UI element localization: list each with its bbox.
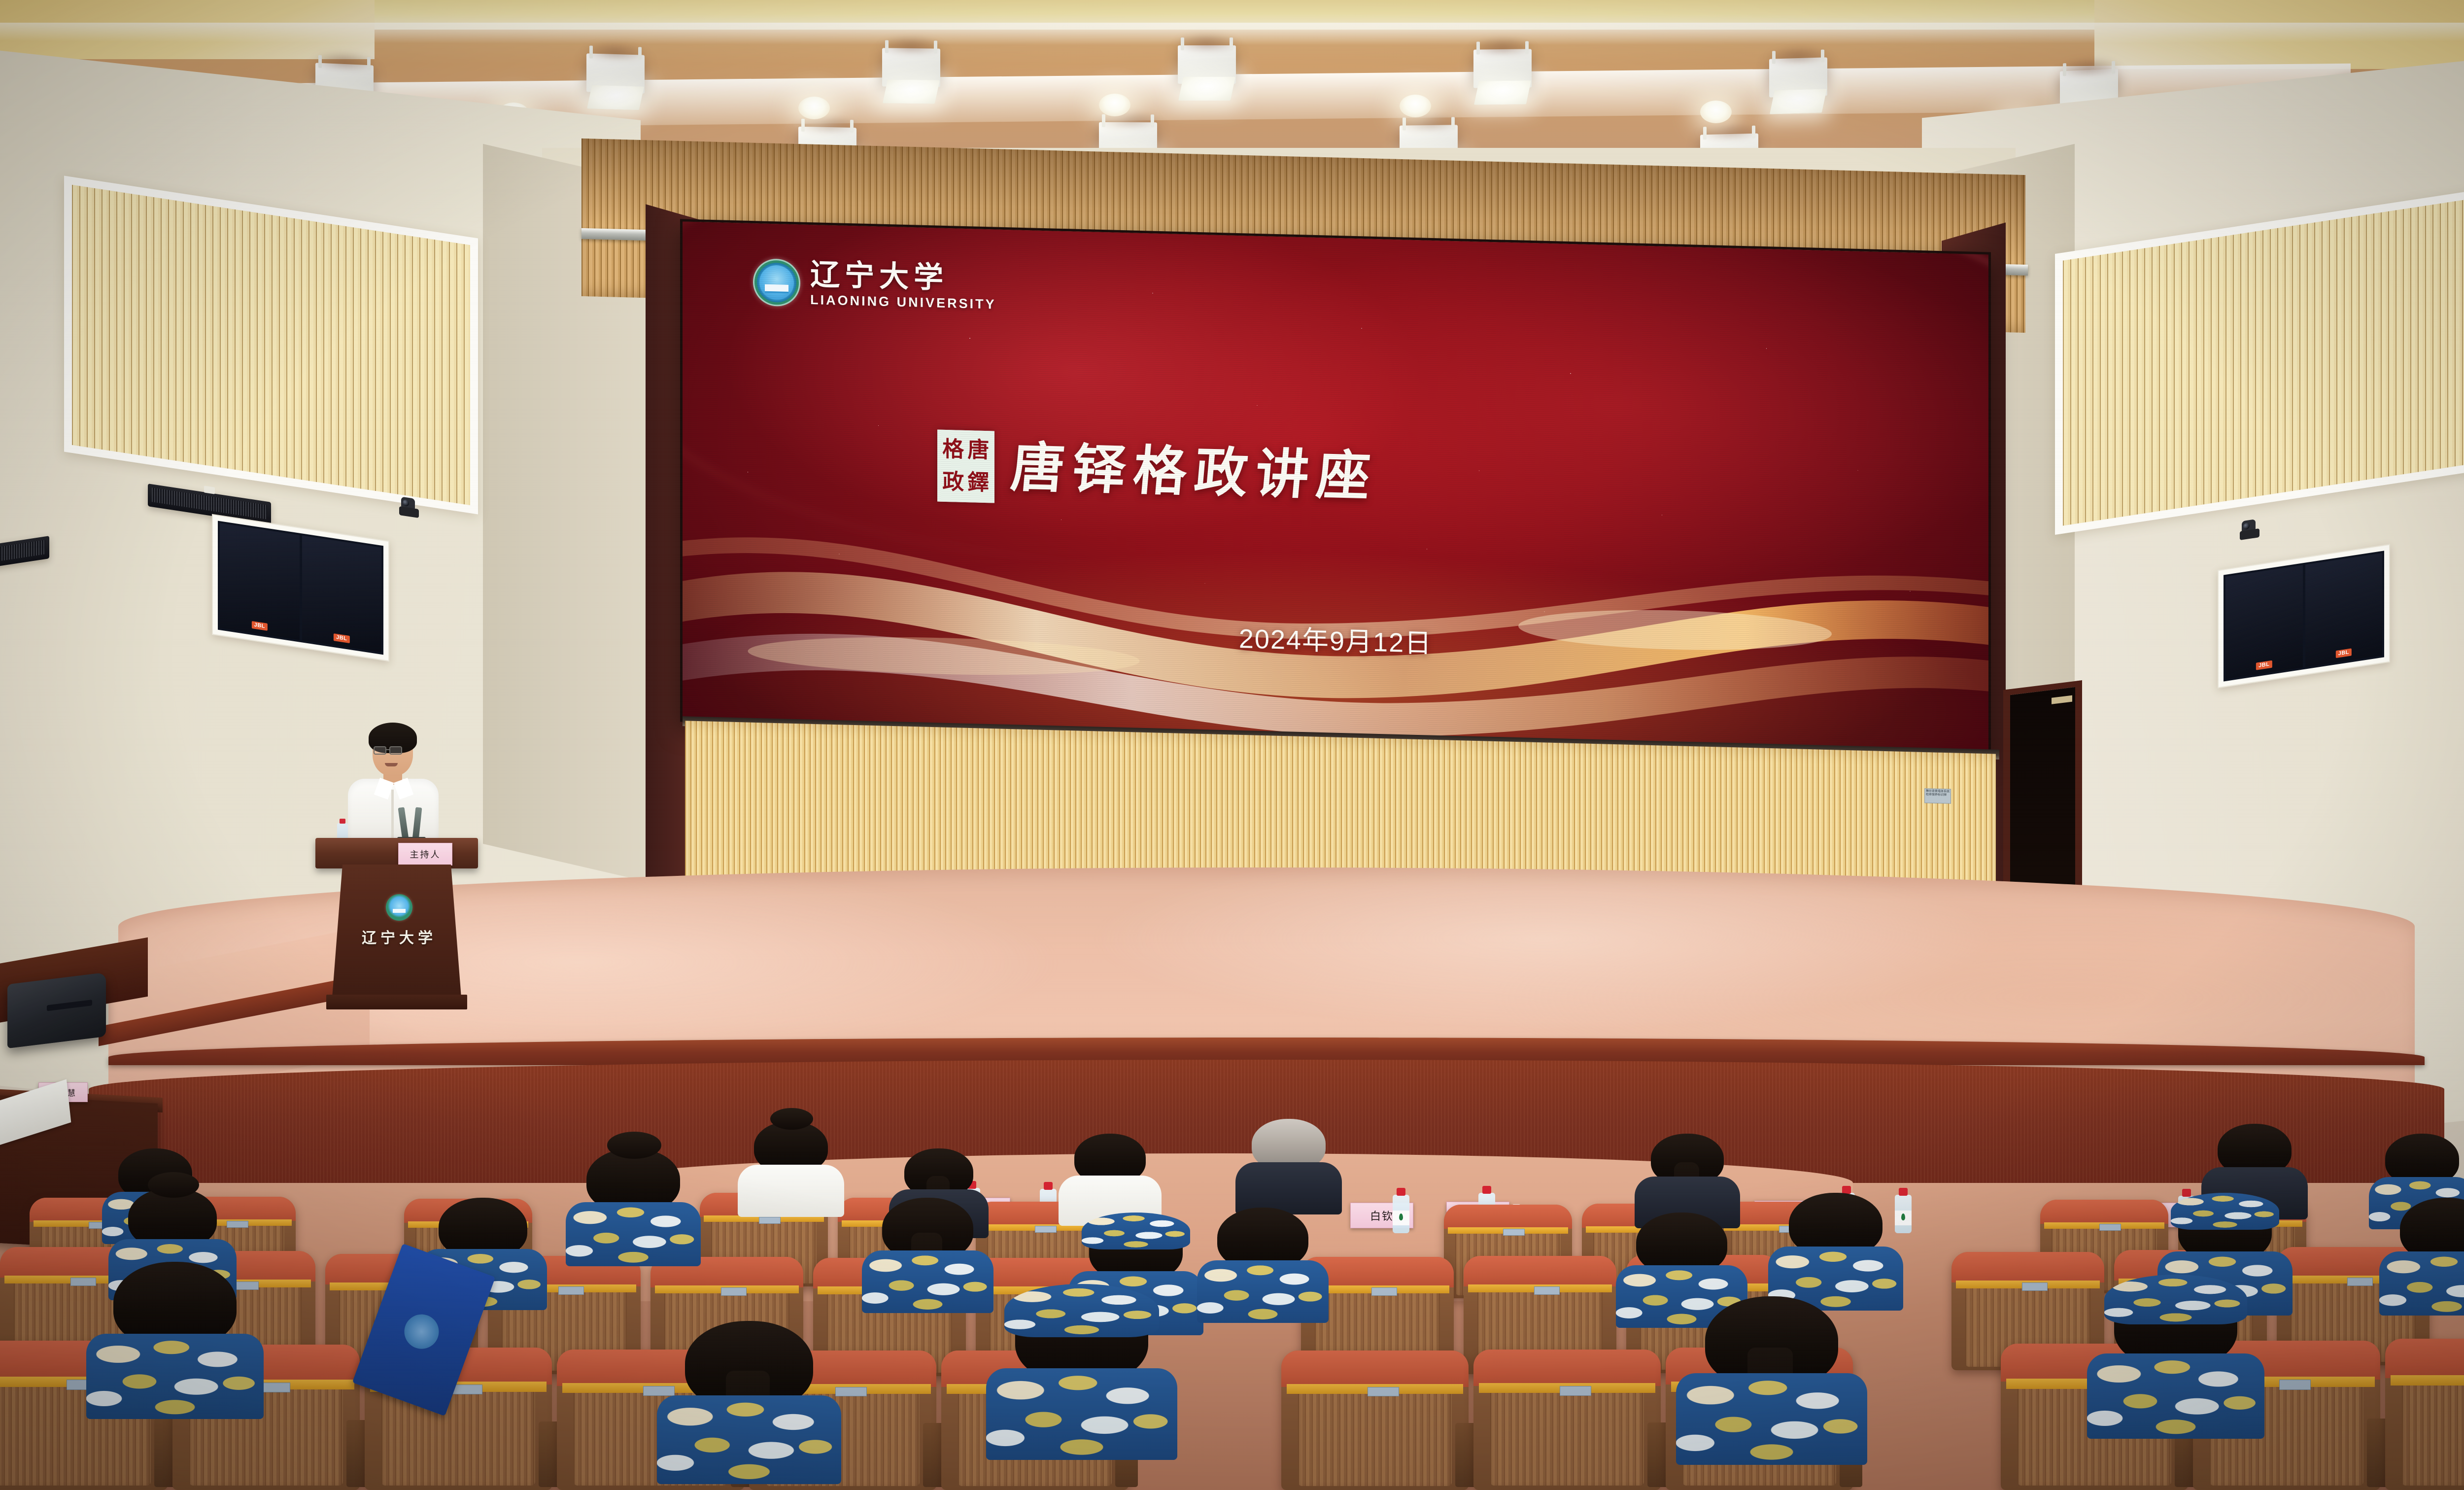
led-backdrop-screen: 辽宁大学 LIAONING UNIVERSITY 格 唐 政 鐸 唐铎格政讲座 … <box>680 219 1991 755</box>
ceiling-downlight-icon <box>1700 101 1732 123</box>
jbl-logo: JBL <box>2256 660 2272 670</box>
audience-person <box>1252 1119 1326 1203</box>
audience-person <box>754 1121 828 1205</box>
audience-person <box>586 1148 680 1252</box>
audience-person <box>1789 1193 1882 1296</box>
ptz-camera-icon-right <box>2240 519 2259 541</box>
podium-group: 主持人 辽宁大学 <box>315 721 483 1026</box>
auditorium-seat[interactable] <box>1473 1350 1661 1490</box>
audience-person <box>2114 1282 2237 1420</box>
jbl-logo: JBL <box>334 633 349 643</box>
ceiling-downlight-icon <box>798 97 830 119</box>
ceiling-box-light-icon <box>586 53 645 93</box>
audience-person <box>882 1198 973 1299</box>
podium-top <box>315 838 478 868</box>
host-placard: 主持人 <box>398 843 452 866</box>
ceiling-box-light-icon <box>1769 57 1827 97</box>
ceiling-box-light-icon <box>1178 45 1236 84</box>
ceiling-box-light-icon <box>1473 49 1532 88</box>
ceiling-downlight-icon <box>1099 94 1130 116</box>
audience-person <box>1217 1208 1308 1309</box>
audience-person <box>2400 1198 2464 1301</box>
auditorium-seat[interactable] <box>1281 1351 1469 1490</box>
audience-person <box>113 1262 237 1400</box>
audience-person <box>1015 1291 1148 1439</box>
water-bottle <box>1393 1195 1409 1233</box>
ceiling-downlight-icon <box>1400 95 1431 117</box>
podium-emblem-icon <box>386 894 412 921</box>
stage-monitor-speaker <box>7 972 106 1049</box>
auditorium-photo: JBL JBL JBL JBL <box>0 0 2464 1490</box>
podium-base <box>326 995 467 1009</box>
podium-institution-text: 辽宁大学 <box>315 926 483 947</box>
maintenance-plate: 舞台背景墙体系统 检修保养标识牌 <box>1924 788 1951 803</box>
audience-person <box>685 1321 813 1464</box>
auditorium-seat[interactable] <box>2385 1339 2464 1490</box>
water-bottle <box>1895 1195 1912 1233</box>
audience-person <box>1074 1134 1146 1214</box>
jbl-logo: JBL <box>252 621 268 631</box>
audience-person <box>1705 1296 1838 1444</box>
audience-person <box>1651 1134 1724 1216</box>
exit-sign-icon <box>2052 695 2072 704</box>
ceiling-box-light-icon <box>882 48 940 87</box>
ptz-camera-icon-left <box>399 496 419 519</box>
glasses-icon <box>374 746 386 755</box>
glasses-icon <box>389 746 402 755</box>
speaker-person <box>344 721 443 844</box>
jbl-logo: JBL <box>2336 648 2352 658</box>
